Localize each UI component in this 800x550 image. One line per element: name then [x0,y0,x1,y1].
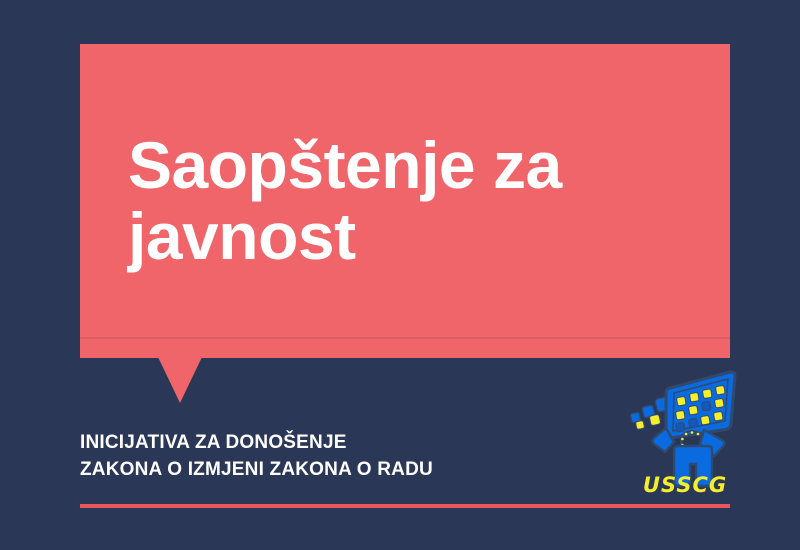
subtitle-text: INICIJATIVA ZA DONOŠENJE ZAKONA O IZMJEN… [80,430,600,484]
page-title: Saopštenje za javnost [128,130,688,273]
logo-wordmark: USSCG [630,473,740,497]
footer-divider-line [80,504,730,508]
bubble-divider-line [80,337,730,339]
poster-canvas: Saopštenje za javnost INICIJATIVA ZA DON… [0,0,800,550]
bubble-tail-pointer [158,357,202,403]
usscg-logo: USSCG [630,366,740,498]
